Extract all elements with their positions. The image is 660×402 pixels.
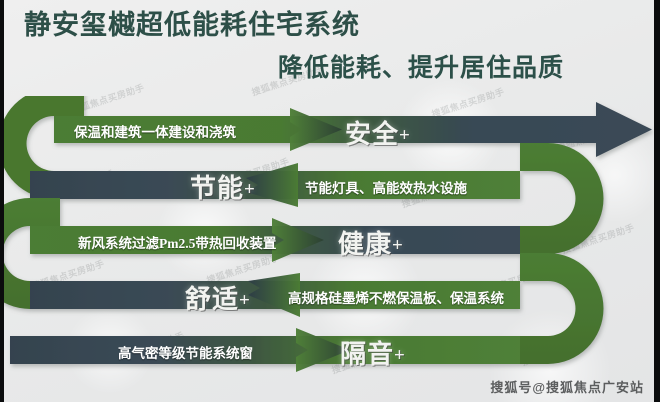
row-1-pill-label: 安全 <box>345 120 399 149</box>
row-5-description: 高气密等级节能系统窗 <box>118 342 253 362</box>
process-snake-diagram: 保温和建筑一体建设和浇筑 节能灯具、高能效热水设施 新风系统过滤Pm2.5带热回… <box>0 96 660 386</box>
row-1-description: 保温和建筑一体建设和浇筑 <box>74 121 236 141</box>
row-1-pill: 安全+ <box>345 114 411 151</box>
row-3-description: 新风系统过滤Pm2.5带热回收装置 <box>78 232 276 252</box>
row-2-pill: 节能+ <box>190 168 256 205</box>
uturn-right-2-3 <box>520 143 604 254</box>
page-title: 静安玺樾超低能耗住宅系统 <box>24 3 360 42</box>
right-edge-bar <box>654 0 660 402</box>
row-4-pill-plus: + <box>239 290 251 311</box>
uturn-right-4-5 <box>520 253 604 364</box>
footer-watermark: 搜狐号@搜狐焦点广安站 <box>490 377 644 396</box>
row-4-description: 高规格硅墨烯不燃保温板、保温系统 <box>288 287 504 307</box>
row-2-description: 节能灯具、高能效热水设施 <box>305 177 467 197</box>
row-3-pill-label: 健康 <box>338 230 392 259</box>
row-3-pill: 健康+ <box>338 224 404 261</box>
row-2-pill-label: 节能 <box>190 174 244 203</box>
slide-canvas: 搜狐焦点买房助手 搜狐焦点买房助手 搜狐焦点买房助手 搜狐焦点买房助手 搜狐焦点… <box>0 0 660 402</box>
row-2-pill-plus: + <box>244 179 256 200</box>
row-5-pill: 隔音+ <box>340 334 406 371</box>
row-1-pill-plus: + <box>399 125 411 146</box>
page-subtitle: 降低能耗、提升居住品质 <box>278 48 564 84</box>
row-4-pill-label: 舒适 <box>185 285 239 314</box>
row-3-pill-plus: + <box>392 235 404 256</box>
row-5-pill-plus: + <box>394 345 406 366</box>
left-edge-bar <box>0 0 4 402</box>
row-5-pill-label: 隔音 <box>340 340 394 369</box>
row-5-band <box>10 336 520 364</box>
row-4-pill: 舒适+ <box>185 279 251 316</box>
